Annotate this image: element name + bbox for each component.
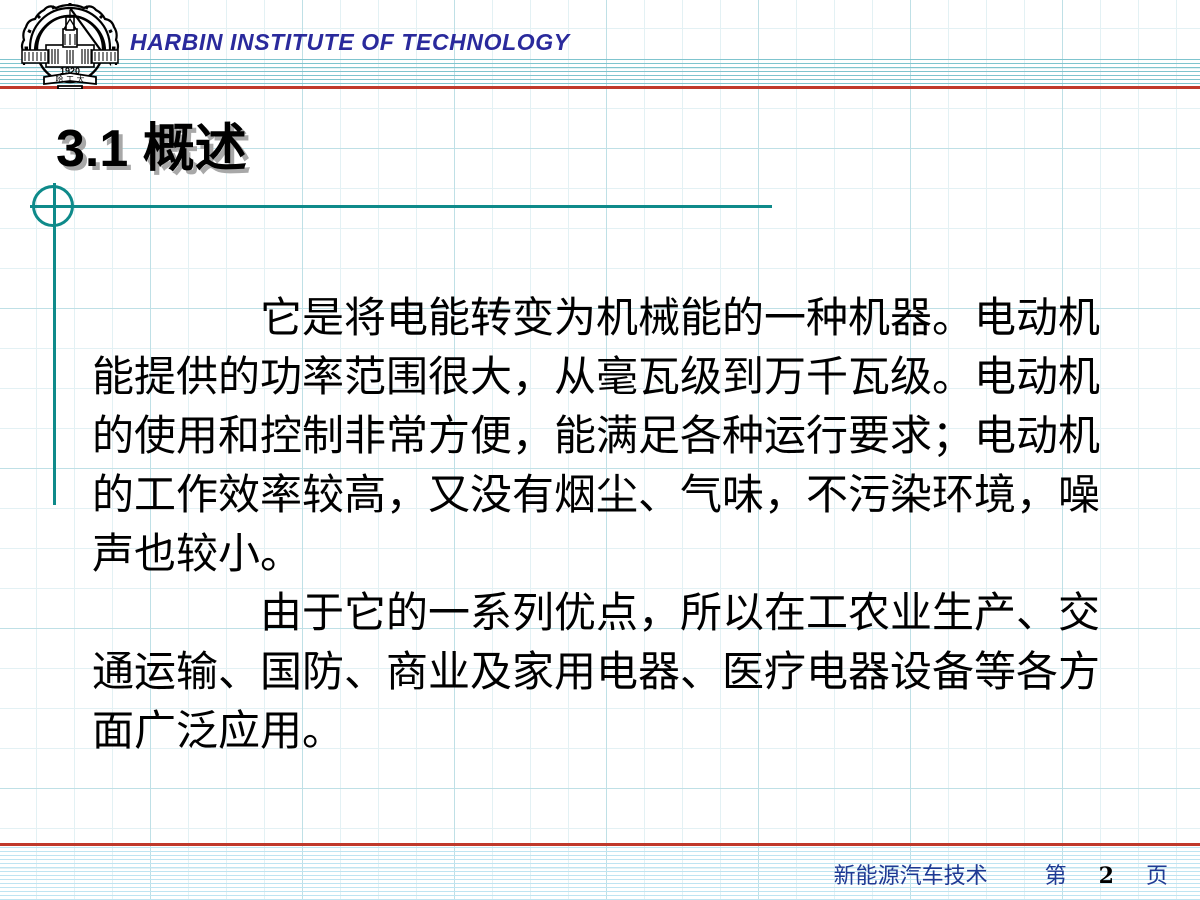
header-stripe-pattern xyxy=(0,59,1200,87)
presentation-slide: 1920 哈 工 大 HARBIN INSTITUTE OF TECHNOLOG… xyxy=(0,0,1200,900)
page-title: 3.1 概述 xyxy=(56,122,247,177)
footer-page-suffix: 页 xyxy=(1146,864,1168,889)
header-red-rule xyxy=(0,86,1200,89)
slide-header: 1920 哈 工 大 HARBIN INSTITUTE OF TECHNOLOG… xyxy=(0,0,1200,92)
title-underline-rule xyxy=(30,205,772,208)
title-circle-decoration xyxy=(32,185,74,227)
title-vertical-accent-line xyxy=(53,183,56,505)
institution-title: HARBIN INSTITUTE OF TECHNOLOGY xyxy=(130,29,570,56)
body-paragraph-1: 它是将电能转变为机械能的一种机器。电动机能提供的功率范围很大，从毫瓦级到万千瓦级… xyxy=(92,288,1132,583)
svg-text:哈 工 大: 哈 工 大 xyxy=(55,74,84,84)
slide-body-text: 它是将电能转变为机械能的一种机器。电动机能提供的功率范围很大，从毫瓦级到万千瓦级… xyxy=(92,288,1132,760)
footer-red-rule xyxy=(0,843,1200,846)
hit-emblem-logo: 1920 哈 工 大 xyxy=(20,3,120,89)
footer-page-prefix: 第 xyxy=(1045,864,1067,889)
footer-course-name: 新能源汽车技术 xyxy=(834,864,988,889)
footer-page-number: 2 xyxy=(1099,863,1114,889)
body-paragraph-2: 由于它的一系列优点，所以在工农业生产、交通运输、国防、商业及家用电器、医疗电器设… xyxy=(92,583,1132,760)
footer: 新能源汽车技术 第 2 页 xyxy=(0,858,1168,890)
